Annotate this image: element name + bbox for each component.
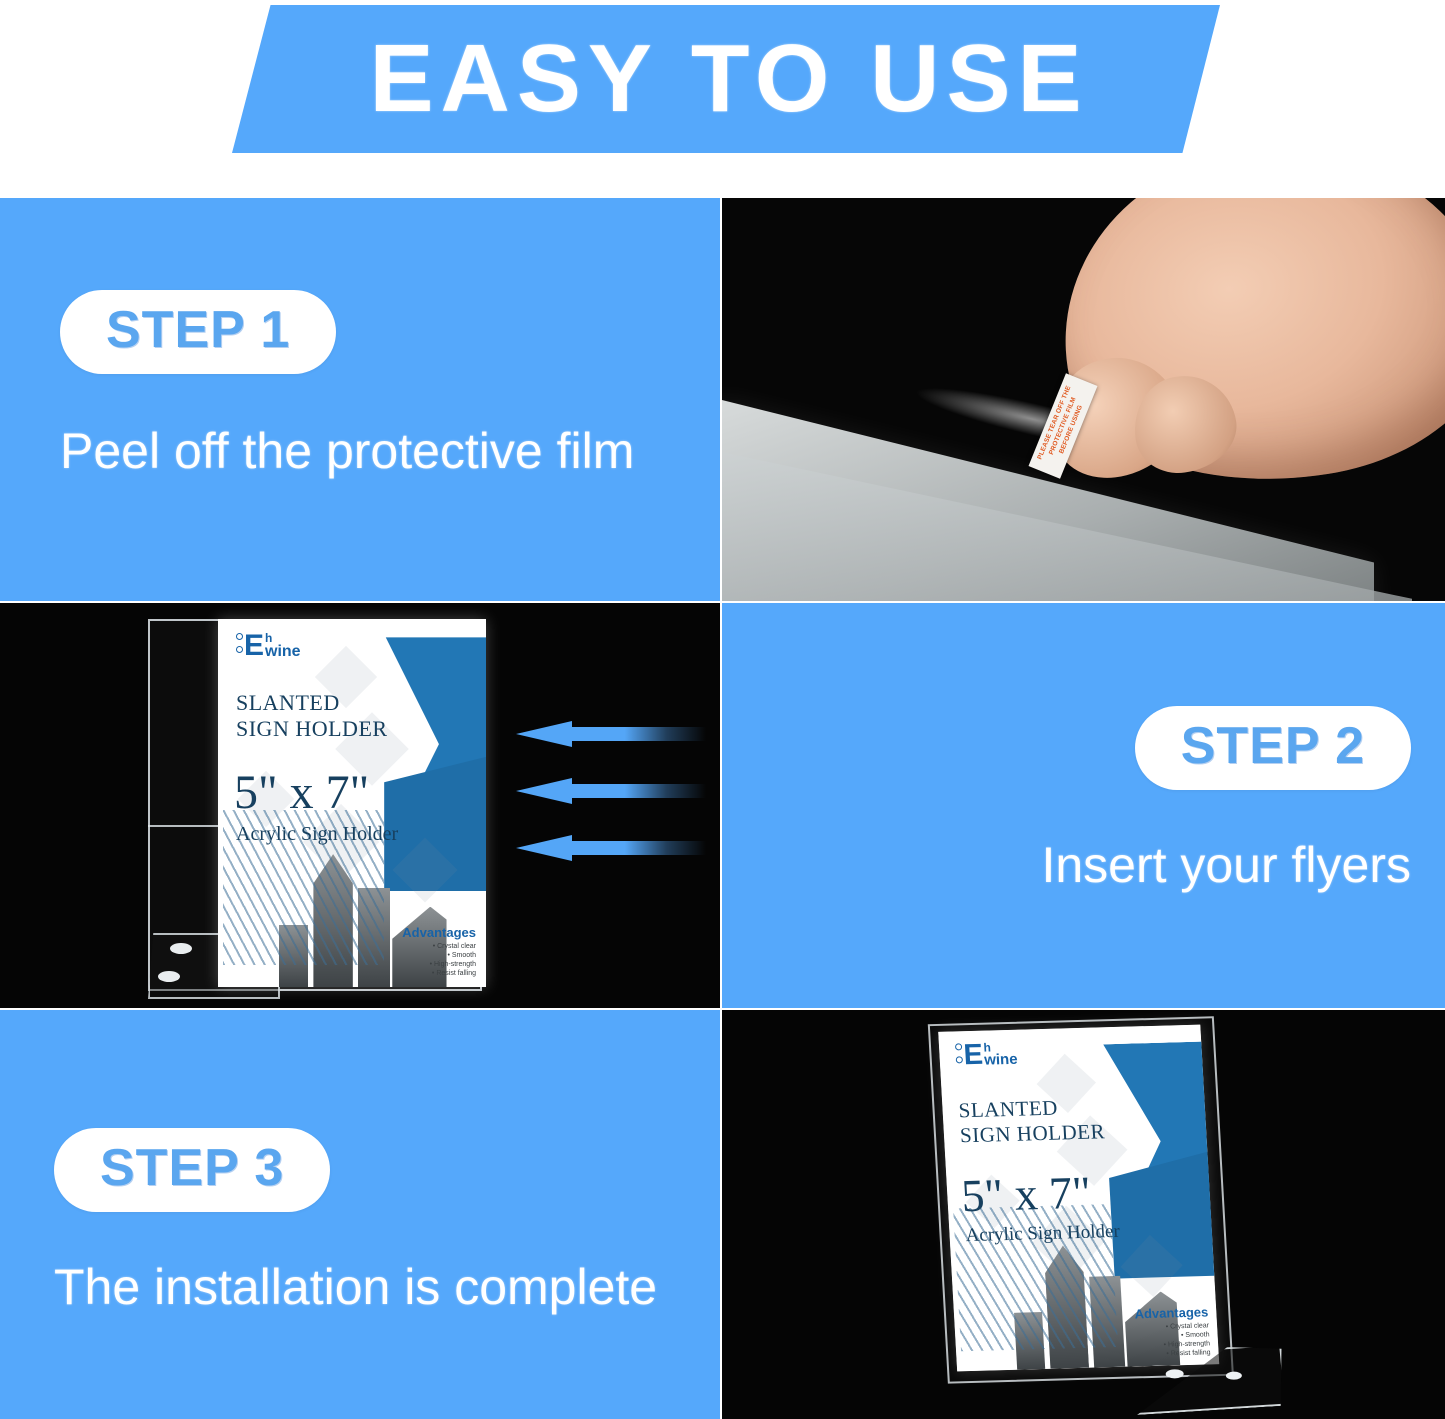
advantage-item: • Resist falling	[402, 970, 476, 977]
step-3-badge: STEP 3	[54, 1128, 330, 1212]
flyer-advantages-block: Advantages • Crystal clear • Smooth • Hi…	[1134, 1304, 1211, 1358]
advantage-label: Crystal clear	[1170, 1322, 1209, 1330]
step-1-text-block: STEP 1 Peel off the protective film	[60, 290, 634, 479]
logo-wordmark: h wine	[983, 1042, 1018, 1069]
arrow-shaft	[566, 841, 706, 855]
flyer-size-text: 5" x 7"	[234, 769, 369, 817]
header-banner: EASY TO USE	[232, 5, 1220, 153]
step-2-photo-panel: E h wine SLANTED SIGN HOLDER 5" x 7" Acr…	[0, 603, 720, 1008]
insert-arrow-icon	[516, 835, 706, 861]
header-area: EASY TO USE	[0, 0, 1445, 198]
advantage-label: High-strength	[1168, 1340, 1210, 1348]
advantage-item: • Crystal clear	[1135, 1322, 1209, 1331]
flyer-subtitle: Acrylic Sign Holder	[965, 1221, 1120, 1247]
logo-dots-icon	[955, 1043, 963, 1063]
product-flyer: E h wine SLANTED SIGN HOLDER 5" x 7" Acr…	[218, 619, 486, 987]
steps-grid: STEP 1 Peel off the protective film PLEA…	[0, 198, 1445, 1419]
step-3-badge-label: STEP 3	[100, 1142, 284, 1194]
step-1-badge-label: STEP 1	[106, 304, 290, 356]
advantage-label: Crystal clear	[437, 943, 476, 950]
advantage-label: Resist falling	[1171, 1349, 1211, 1357]
advantage-label: Smooth	[452, 952, 476, 959]
step-1-badge: STEP 1	[60, 290, 336, 374]
advantage-label: Smooth	[1185, 1331, 1210, 1339]
logo-wordmark-wine: wine	[265, 644, 301, 659]
base-hole-1	[170, 943, 192, 954]
step-1-text-panel: STEP 1 Peel off the protective film	[0, 198, 720, 601]
step-3-description: The installation is complete	[54, 1260, 657, 1315]
logo-letter-e: E	[244, 633, 264, 659]
brand-logo: E h wine	[236, 633, 301, 660]
logo-dot-icon	[236, 646, 243, 653]
step-1-photo-panel: PLEASE TEAR OFF THE PROTECTIVE FILM BEFO…	[722, 198, 1445, 601]
advantage-item: • Crystal clear	[402, 943, 476, 950]
advantage-item: • Smooth	[1136, 1331, 1210, 1340]
step-2-text-block: STEP 2 Insert your flyers	[1041, 706, 1411, 893]
insert-arrow-icon	[516, 778, 706, 804]
product-flyer: E h wine SLANTED SIGN HOLDER 5" x 7" Acr…	[938, 1025, 1219, 1372]
advantages-title: Advantages	[402, 925, 476, 940]
insert-arrow-icon	[516, 721, 706, 747]
step-2-description: Insert your flyers	[1041, 838, 1411, 893]
flyer-subtitle: Acrylic Sign Holder	[236, 823, 398, 846]
logo-dot-icon	[956, 1056, 963, 1063]
infographic-page: EASY TO USE STEP 1 Peel off the protecti…	[0, 0, 1445, 1419]
flyer-title-line-1: SLANTED	[236, 689, 340, 716]
arrow-shaft	[566, 727, 706, 741]
assembled-sign-holder: E h wine SLANTED SIGN HOLDER 5" x 7" Acr…	[938, 1025, 1220, 1382]
base-hole-2	[158, 971, 180, 982]
advantage-item: • High-strength	[402, 961, 476, 968]
logo-dot-icon	[955, 1043, 962, 1050]
step-3-photo-panel: E h wine SLANTED SIGN HOLDER 5" x 7" Acr…	[722, 1010, 1445, 1419]
step-2-text-panel: STEP 2 Insert your flyers	[722, 603, 1445, 1008]
advantage-label: High-strength	[434, 961, 476, 968]
logo-dots-icon	[236, 633, 243, 653]
logo-dot-icon	[236, 633, 243, 640]
arrow-head	[516, 778, 572, 804]
logo-letter-e: E	[963, 1043, 984, 1068]
advantage-item: • Smooth	[402, 952, 476, 959]
brand-logo: E h wine	[955, 1042, 1018, 1069]
step-3-text-block: STEP 3 The installation is complete	[54, 1128, 657, 1315]
step-2-badge-label: STEP 2	[1181, 720, 1365, 772]
page-title: EASY TO USE	[364, 31, 1089, 127]
arrow-shaft	[566, 784, 706, 798]
flyer-title-line-2: SIGN HOLDER	[236, 715, 388, 742]
arrow-head	[516, 835, 572, 861]
advantage-label: Resist falling	[436, 970, 476, 977]
step-2-badge: STEP 2	[1135, 706, 1411, 790]
logo-wordmark: h wine	[265, 633, 301, 660]
flyer-size-text: 5" x 7"	[960, 1170, 1092, 1220]
step-1-description: Peel off the protective film	[60, 424, 634, 479]
flyer-title-line-2: SIGN HOLDER	[959, 1118, 1105, 1148]
advantage-item: • High-strength	[1136, 1340, 1210, 1349]
arrow-head	[516, 721, 572, 747]
logo-wordmark-wine: wine	[984, 1053, 1018, 1068]
flyer-advantages-block: Advantages • Crystal clear • Smooth • Hi…	[402, 925, 476, 977]
advantages-title: Advantages	[1134, 1304, 1209, 1321]
step-3-text-panel: STEP 3 The installation is complete	[0, 1010, 720, 1419]
